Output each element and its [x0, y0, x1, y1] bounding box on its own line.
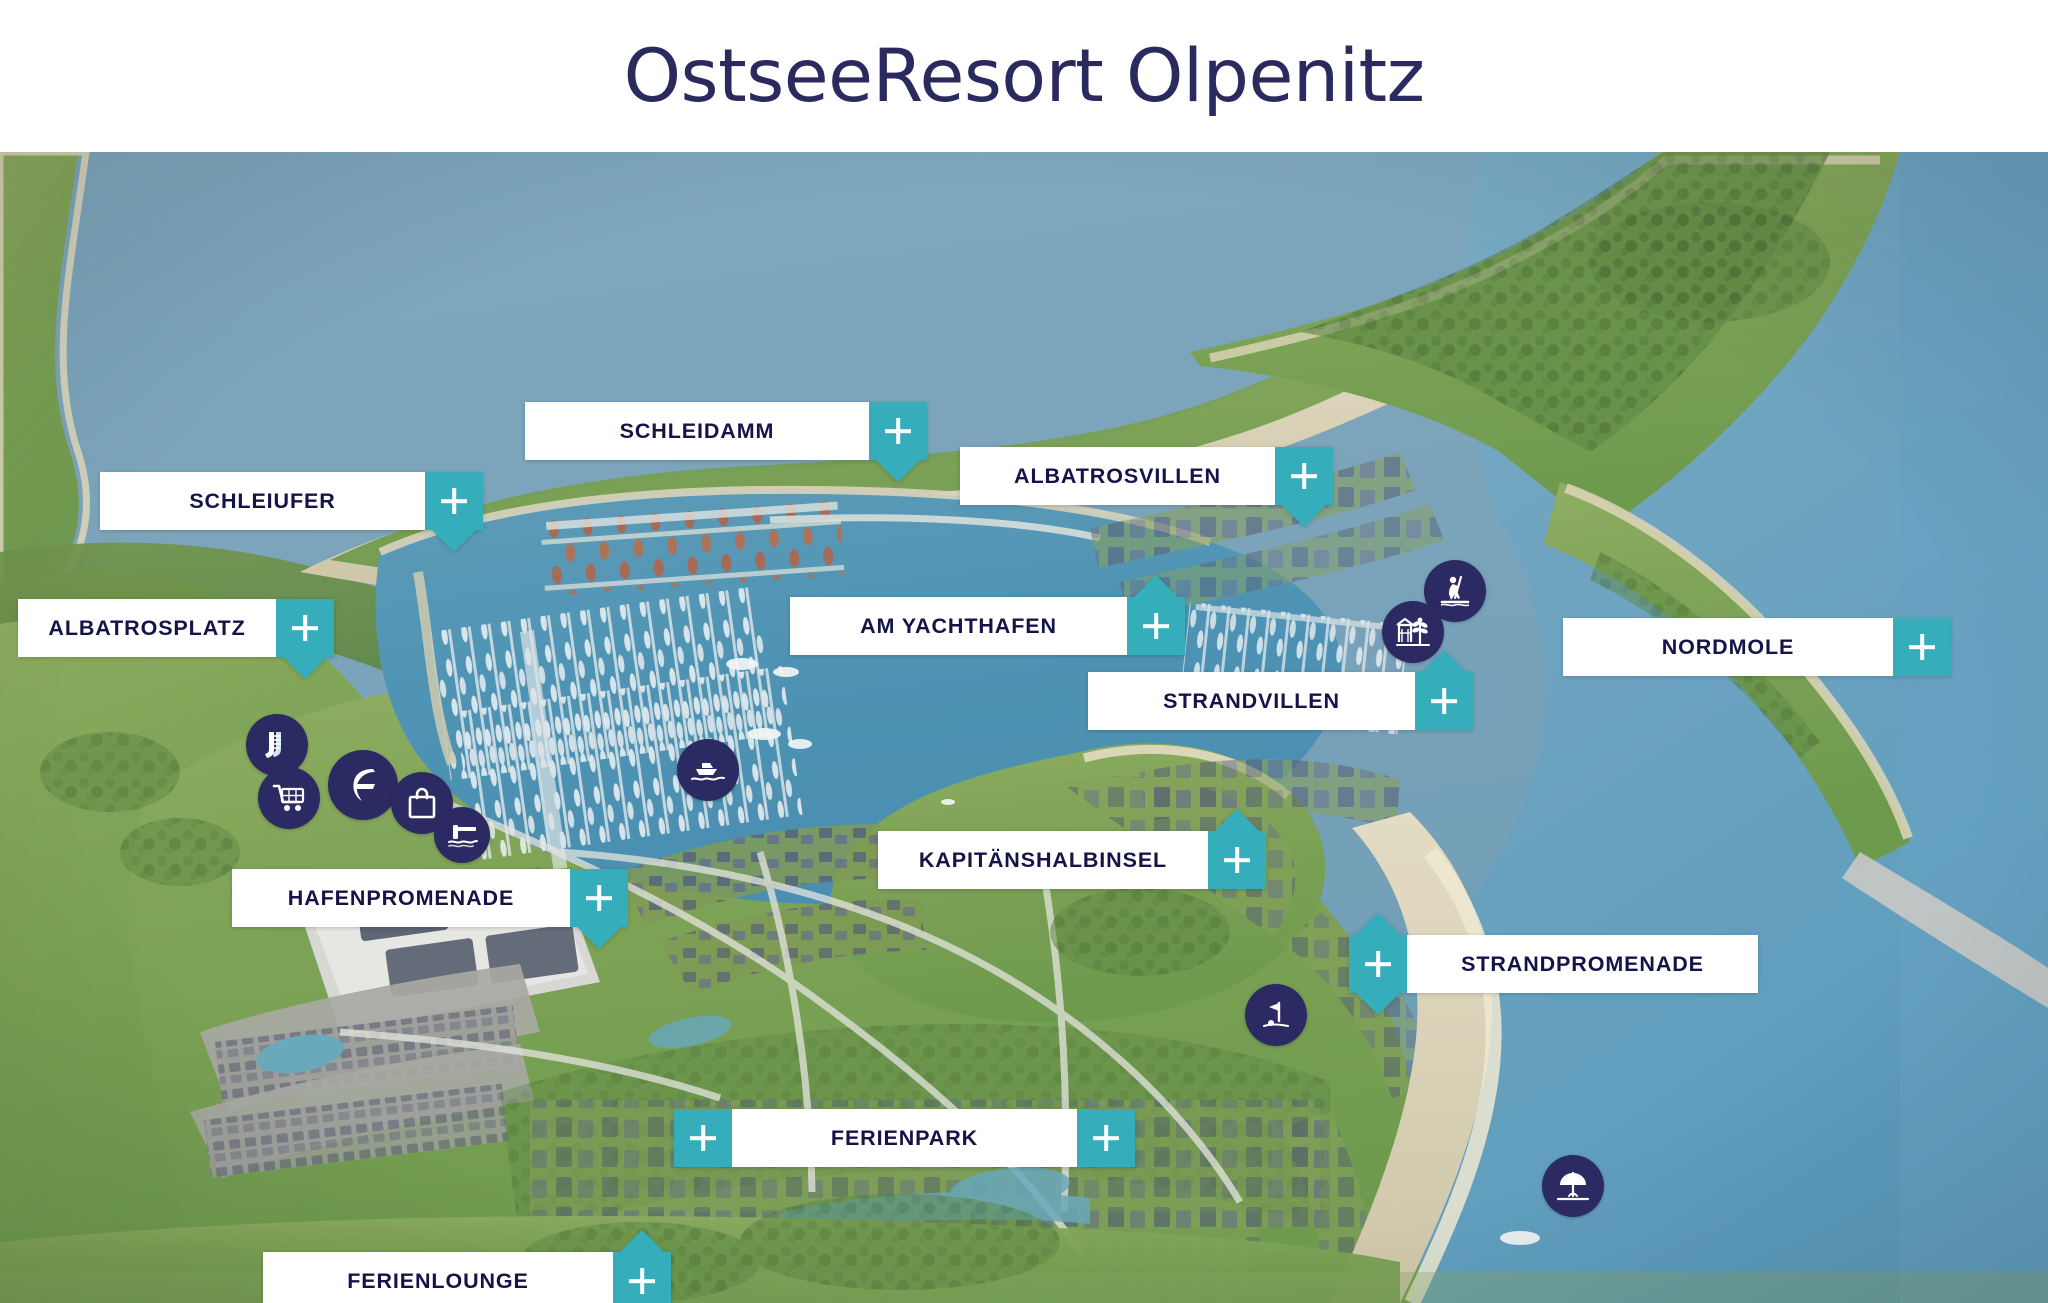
hotspot-strandvillen[interactable]: STRANDVILLEN — [1088, 672, 1473, 730]
hotspot-plus-albatrosplatz[interactable] — [276, 599, 334, 657]
hotspot-plus-schleidamm[interactable] — [869, 402, 927, 460]
hotspot-label-hafenpromenade: HAFENPROMENADE — [232, 869, 570, 927]
hotspot-hafenpromenade[interactable]: HAFENPROMENADE — [232, 869, 628, 927]
hotspot-plus-schleiufer[interactable] — [425, 472, 483, 530]
hotspot-label-am-yachthafen: AM YACHTHAFEN — [790, 597, 1127, 655]
tail-up-icon — [1215, 809, 1259, 831]
hotspot-plus-hafenpromenade[interactable] — [570, 869, 628, 927]
hotspot-label-strandpromenade: STRANDPROMENADE — [1407, 935, 1758, 993]
hotspot-albatrosplatz[interactable]: ALBATROSPLATZ — [18, 599, 334, 657]
tail-down-icon — [432, 530, 476, 552]
tail-up-icon — [1356, 913, 1400, 935]
hotspot-schleiufer[interactable]: SCHLEIUFER — [100, 472, 483, 530]
resort-aerial-map[interactable]: SCHLEIDAMM SCHLEIUFER ALBATROSVILLEN — [0, 152, 2048, 1303]
hotspot-schleidamm[interactable]: SCHLEIDAMM — [525, 402, 927, 460]
hotspot-kapitaenshalbinsel[interactable]: KAPITÄNSHALBINSEL — [878, 831, 1266, 889]
motorboat-icon[interactable] — [677, 739, 739, 801]
hotspot-label-ferienpark: FERIENPARK — [732, 1109, 1077, 1167]
hotspot-label-albatrosplatz: ALBATROSPLATZ — [18, 599, 276, 657]
hotspot-nordmole[interactable]: NORDMOLE — [1563, 618, 1951, 676]
page-title: OstseeResort Olpenitz — [624, 34, 1425, 119]
hotspot-plus-ferienpark-left[interactable] — [674, 1109, 732, 1167]
hotspot-label-strandvillen: STRANDVILLEN — [1088, 672, 1415, 730]
beach-umbrella-icon[interactable] — [1542, 1155, 1604, 1217]
hotspot-plus-nordmole[interactable] — [1893, 618, 1951, 676]
hotspot-plus-strandpromenade[interactable] — [1349, 935, 1407, 993]
hotspot-label-kapitaenshalbinsel: KAPITÄNSHALBINSEL — [878, 831, 1208, 889]
hotspot-label-albatrosvillen: ALBATROSVILLEN — [960, 447, 1275, 505]
hotspot-ferienlounge[interactable]: FERIENLOUNGE — [263, 1252, 671, 1303]
tail-up-icon — [620, 1230, 664, 1252]
hotspot-label-schleidamm: SCHLEIDAMM — [525, 402, 869, 460]
page-header: OstseeResort Olpenitz — [0, 0, 2048, 152]
diving-platform-icon[interactable] — [434, 807, 490, 863]
tail-down-icon — [577, 927, 621, 949]
minigolf-icon[interactable] — [1245, 984, 1307, 1046]
hotspot-plus-strandvillen[interactable] — [1415, 672, 1473, 730]
tail-down-icon — [1356, 993, 1400, 1015]
shopping-cart-icon[interactable] — [258, 767, 320, 829]
f-logo-icon[interactable] — [328, 750, 398, 820]
hotspot-label-nordmole: NORDMOLE — [1563, 618, 1893, 676]
tail-up-icon — [1134, 575, 1178, 597]
hotspot-plus-albatrosvillen[interactable] — [1275, 447, 1333, 505]
hotspot-plus-kapitaenshalbinsel[interactable] — [1208, 831, 1266, 889]
tail-down-icon — [876, 460, 920, 482]
hotspot-plus-am-yachthafen[interactable] — [1127, 597, 1185, 655]
tail-up-icon — [1422, 650, 1466, 672]
tail-down-icon — [283, 657, 327, 679]
hotspot-label-schleiufer: SCHLEIUFER — [100, 472, 425, 530]
tail-down-icon — [1282, 505, 1326, 527]
hotspot-am-yachthafen[interactable]: AM YACHTHAFEN — [790, 597, 1185, 655]
hotspot-ferienpark[interactable]: FERIENPARK — [674, 1109, 1135, 1167]
water-slide-icon[interactable] — [246, 714, 308, 776]
hotspot-strandpromenade[interactable]: STRANDPROMENADE — [1349, 935, 1758, 993]
resort-map-page: OstseeResort Olpenitz — [0, 0, 2048, 1303]
hotspot-label-ferienlounge: FERIENLOUNGE — [263, 1252, 613, 1303]
hotspot-plus-ferienlounge[interactable] — [613, 1252, 671, 1303]
hotspot-plus-ferienpark-right[interactable] — [1077, 1109, 1135, 1167]
hotspot-albatrosvillen[interactable]: ALBATROSVILLEN — [960, 447, 1333, 505]
